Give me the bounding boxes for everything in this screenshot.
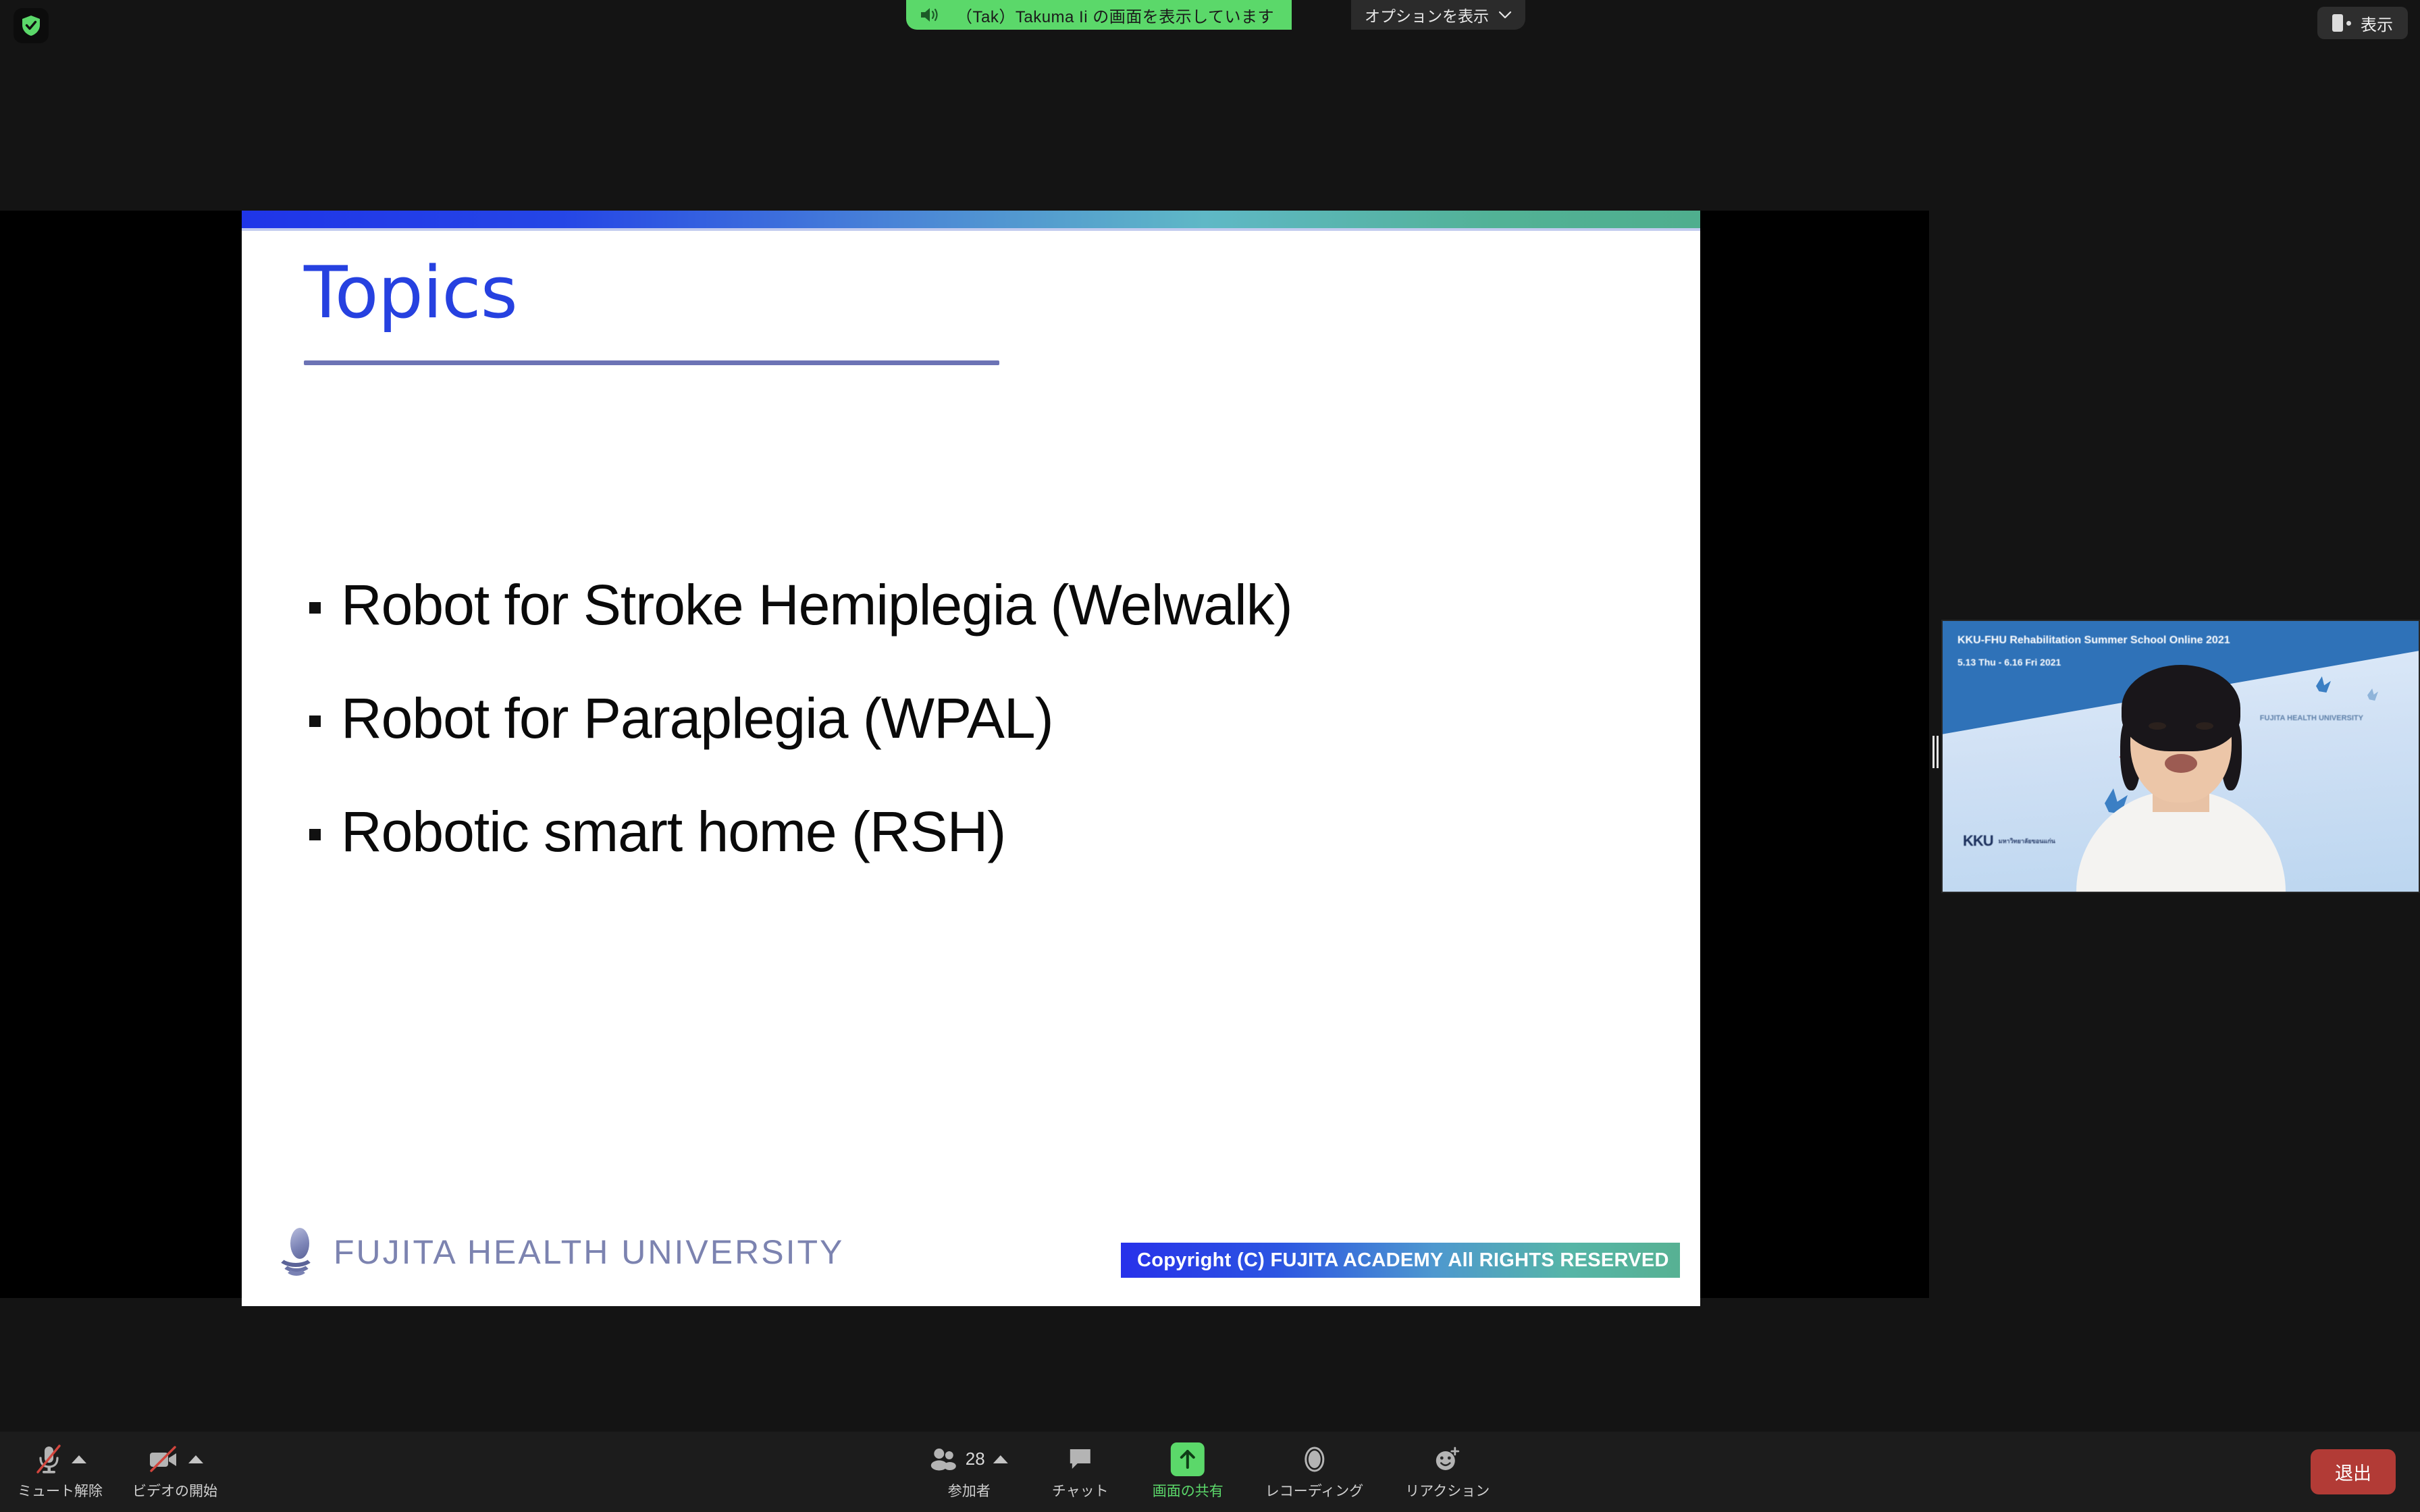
chat-icon	[1067, 1447, 1094, 1472]
speaker-video-thumbnail[interactable]: KKU-FHU Rehabilitation Summer School Onl…	[1941, 620, 2420, 893]
speaker-icon	[920, 6, 940, 24]
video-options-caret-icon[interactable]	[188, 1455, 203, 1463]
drag-handle-icon[interactable]	[1932, 736, 1939, 768]
chat-label: チャット	[1052, 1480, 1109, 1501]
view-layout-button[interactable]: 表示	[2317, 7, 2408, 39]
participants-button[interactable]: 28 参加者	[930, 1444, 1008, 1501]
share-screen-button[interactable]: 画面の共有	[1153, 1444, 1224, 1501]
video-toggle-button[interactable]: ビデオの開始	[132, 1444, 217, 1501]
microphone-muted-icon[interactable]	[34, 1444, 63, 1475]
kku-logo-text: KKU	[1963, 832, 1993, 850]
list-item: Robotic smart home (RSH)	[309, 802, 1592, 861]
show-options-button[interactable]: オプションを表示	[1351, 0, 1525, 30]
participants-count: 28	[966, 1449, 985, 1469]
reactions-button[interactable]: リアクション	[1405, 1444, 1490, 1501]
slide-top-gradient-band	[242, 211, 1700, 228]
slide-title: Topics	[304, 251, 517, 334]
presentation-slide: Topics Robot for Stroke Hemiplegia (Welw…	[242, 211, 1700, 1306]
meeting-toolbar: ミュート解除 ビデオの開始	[0, 1432, 2420, 1512]
reactions-label: リアクション	[1405, 1480, 1490, 1501]
video-off-icon[interactable]	[147, 1444, 180, 1475]
bullet-marker-icon	[309, 715, 321, 727]
chevron-down-icon	[1498, 11, 1512, 19]
organization-name: FUJITA HEALTH UNIVERSITY	[334, 1233, 844, 1272]
reactions-icon	[1433, 1445, 1462, 1474]
zoom-meeting-window: （Tak）Takuma Ii の画面を表示しています オプションを表示 表示 T…	[0, 0, 2420, 1512]
speaker-portrait	[2070, 669, 2292, 892]
leave-meeting-button[interactable]: 退出	[2311, 1449, 2396, 1494]
participants-caret-icon[interactable]	[993, 1455, 1008, 1463]
slide-title-underline	[304, 360, 999, 365]
show-options-label: オプションを表示	[1365, 3, 1489, 26]
video-overlay-title: KKU-FHU Rehabilitation Summer School Onl…	[1957, 634, 2230, 647]
participants-icon	[930, 1448, 957, 1471]
bullet-text: Robot for Stroke Hemiplegia (Welwalk)	[341, 575, 1292, 634]
record-button[interactable]: レコーディング	[1265, 1444, 1364, 1501]
record-label: レコーディング	[1265, 1480, 1364, 1501]
bullet-marker-icon	[309, 602, 321, 614]
share-screen-label: 画面の共有	[1153, 1480, 1224, 1501]
share-screen-icon	[1171, 1442, 1205, 1476]
chat-button[interactable]: チャット	[1050, 1444, 1111, 1501]
sharing-status-banner: （Tak）Takuma Ii の画面を表示しています	[906, 0, 1292, 30]
list-item: Robot for Stroke Hemiplegia (Welwalk)	[309, 575, 1592, 634]
mute-toggle-button[interactable]: ミュート解除	[18, 1444, 103, 1501]
video-overlay-dates: 5.13 Thu - 6.16 Fri 2021	[1957, 657, 2061, 668]
slide-bullet-list: Robot for Stroke Hemiplegia (Welwalk) Ro…	[309, 575, 1592, 916]
shield-check-icon[interactable]	[14, 8, 49, 43]
list-item: Robot for Paraplegia (WPAL)	[309, 688, 1592, 748]
sharing-status-text: （Tak）Takuma Ii の画面を表示しています	[956, 3, 1274, 27]
copyright-bar: Copyright (C) FUJITA ACADEMY All RIGHTS …	[1121, 1243, 1680, 1278]
record-icon	[1301, 1445, 1327, 1474]
layout-view-icon	[2332, 14, 2351, 32]
shared-screen-viewport[interactable]: Topics Robot for Stroke Hemiplegia (Welw…	[0, 211, 1929, 1298]
bullet-text: Robot for Paraplegia (WPAL)	[341, 688, 1053, 748]
slide-footer-logo: FUJITA HEALTH UNIVERSITY	[274, 1228, 844, 1276]
mute-toggle-label: ミュート解除	[18, 1480, 103, 1501]
participants-label: 参加者	[948, 1480, 991, 1501]
audio-options-caret-icon[interactable]	[72, 1455, 86, 1463]
bullet-marker-icon	[309, 829, 321, 840]
video-toggle-label: ビデオの開始	[132, 1480, 217, 1501]
bullet-text: Robotic smart home (RSH)	[341, 802, 1005, 861]
view-layout-label: 表示	[2361, 11, 2393, 35]
kku-logo-subtext: มหาวิทยาลัยขอนแก่น	[1999, 838, 2055, 844]
kku-logo: KKU มหาวิทยาลัยขอนแก่น	[1963, 832, 2055, 850]
fujita-health-university-logo-icon	[274, 1228, 316, 1276]
